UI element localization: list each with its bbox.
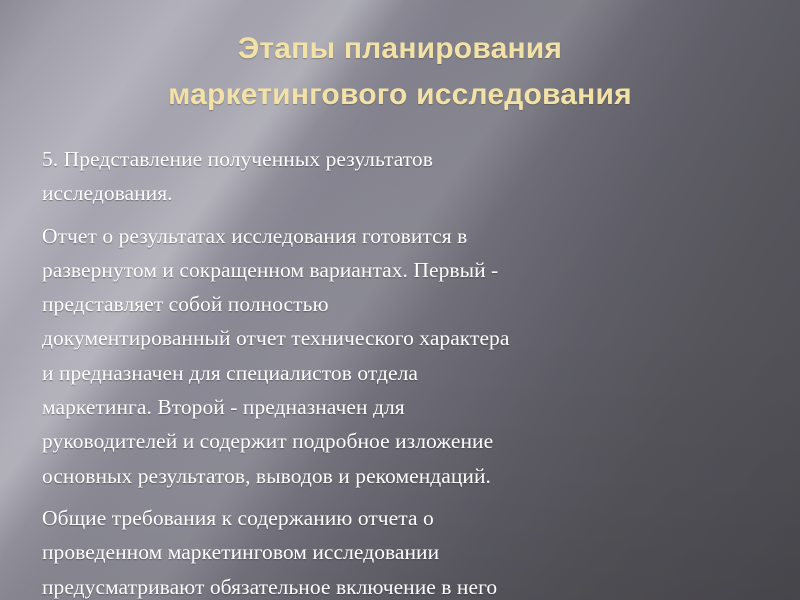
slide-title-line-2: маркетингового исследования bbox=[0, 72, 800, 118]
body-line: 5. Представление полученных результатов bbox=[42, 142, 772, 176]
body-line: исследования. bbox=[42, 176, 772, 210]
body-line: основных результатов, выводов и рекоменд… bbox=[42, 459, 772, 493]
body-paragraph-2: Отчет о результатах исследования готовит… bbox=[42, 219, 772, 493]
presentation-slide: Этапы планирования маркетингового исслед… bbox=[0, 0, 800, 600]
body-line: Общие требования к содержанию отчета о bbox=[42, 501, 772, 535]
body-line: проведенном маркетинговом исследовании bbox=[42, 535, 772, 569]
slide-body: 5. Представление полученных результатов … bbox=[42, 142, 772, 600]
body-paragraph-3: Общие требования к содержанию отчета о п… bbox=[42, 501, 772, 600]
body-line: и предназначен для специалистов отдела bbox=[42, 356, 772, 390]
body-paragraph-1: 5. Представление полученных результатов … bbox=[42, 142, 772, 211]
body-line: развернутом и сокращенном вариантах. Пер… bbox=[42, 253, 772, 287]
body-line: руководителей и содержит подробное излож… bbox=[42, 424, 772, 458]
slide-title: Этапы планирования маркетингового исслед… bbox=[0, 26, 800, 117]
body-line: предусматривают обязательное включение в… bbox=[42, 570, 772, 600]
body-line: документированный отчет технического хар… bbox=[42, 321, 772, 355]
body-line: Отчет о результатах исследования готовит… bbox=[42, 219, 772, 253]
body-line: маркетинга. Второй - предназначен для bbox=[42, 390, 772, 424]
slide-title-line-1: Этапы планирования bbox=[0, 26, 800, 72]
body-line: представляет собой полностью bbox=[42, 287, 772, 321]
